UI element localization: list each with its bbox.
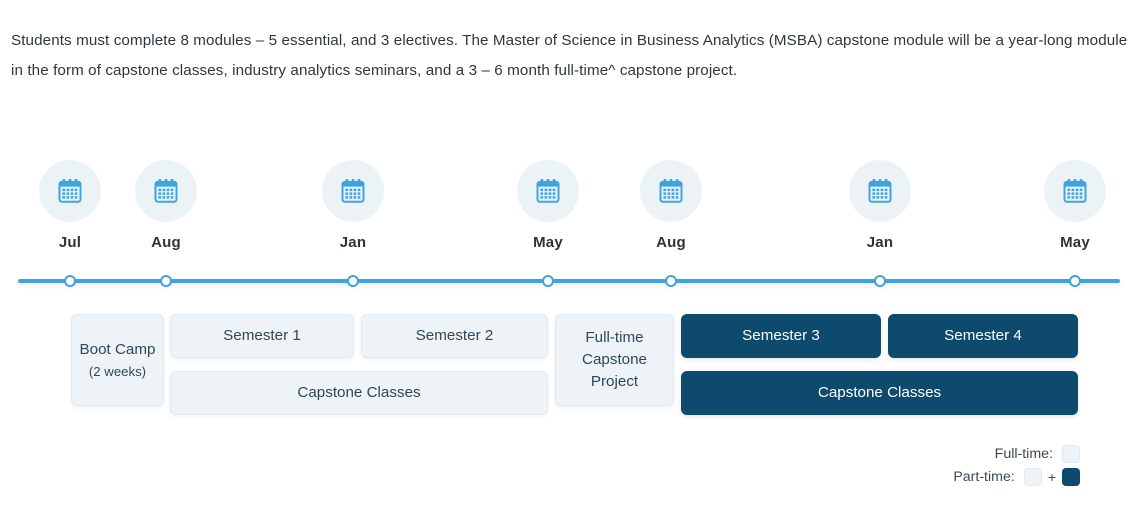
legend-row-part-time: Part-time:+ (953, 465, 1080, 488)
legend-swatch-light (1024, 468, 1042, 486)
milestone-circle (322, 160, 384, 222)
calendar-icon (657, 177, 685, 205)
bar-semester-3[interactable]: Semester 3 (681, 314, 881, 358)
axis-dot-0 (64, 275, 76, 287)
legend: Full-time:Part-time:+ (953, 442, 1080, 488)
milestone-may-3: May (488, 160, 608, 251)
axis-dot-4 (665, 275, 677, 287)
bar-label: Boot Camp (80, 339, 156, 361)
milestone-circle (640, 160, 702, 222)
milestone-label: Jan (820, 234, 940, 251)
axis-dot-1 (160, 275, 172, 287)
bar-full-time-capstone-project[interactable]: Full-time Capstone Project (555, 314, 674, 406)
bar-content: Boot Camp(2 weeks) (80, 339, 156, 382)
bar-label: Capstone Classes (297, 382, 420, 404)
milestone-aug-1: Aug (106, 160, 226, 251)
legend-joiner: + (1048, 469, 1056, 485)
timeline-bars: Boot Camp(2 weeks)Semester 1Semester 2Fu… (0, 314, 1138, 420)
milestone-circle (1044, 160, 1106, 222)
calendar-icon (534, 177, 562, 205)
milestone-may-6: May (1015, 160, 1135, 251)
bar-semester-4[interactable]: Semester 4 (888, 314, 1078, 358)
bar-label: Semester 2 (416, 325, 494, 347)
calendar-icon (56, 177, 84, 205)
milestone-aug-4: Aug (611, 160, 731, 251)
bar-capstone-classes[interactable]: Capstone Classes (681, 371, 1078, 415)
milestone-label: Aug (106, 234, 226, 251)
milestone-label: May (1015, 234, 1135, 251)
legend-swatch-light (1062, 445, 1080, 463)
axis-dot-6 (1069, 275, 1081, 287)
timeline-axis-line (18, 279, 1120, 283)
axis-dot-5 (874, 275, 886, 287)
bar-content: Full-time Capstone Project (562, 327, 667, 393)
bar-content: Capstone Classes (297, 382, 420, 404)
milestone-circle (39, 160, 101, 222)
bar-label: Semester 1 (223, 325, 301, 347)
bar-content: Capstone Classes (818, 382, 941, 404)
milestone-label: Jan (293, 234, 413, 251)
axis-dot-3 (542, 275, 554, 287)
milestone-label: Aug (611, 234, 731, 251)
timeline-axis (0, 276, 1138, 294)
bar-semester-2[interactable]: Semester 2 (361, 314, 548, 358)
milestone-label: May (488, 234, 608, 251)
legend-swatch-dark (1062, 468, 1080, 486)
legend-label: Part-time: (953, 469, 1015, 485)
bar-content: Semester 2 (416, 325, 494, 347)
intro-paragraph: Students must complete 8 modules – 5 ess… (11, 26, 1138, 86)
bar-content: Semester 1 (223, 325, 301, 347)
bar-semester-1[interactable]: Semester 1 (170, 314, 354, 358)
calendar-icon (152, 177, 180, 205)
milestone-jan-5: Jan (820, 160, 940, 251)
bar-sublabel: (2 weeks) (80, 361, 156, 382)
bar-content: Semester 3 (742, 325, 820, 347)
calendar-icon (1061, 177, 1089, 205)
milestone-circle (849, 160, 911, 222)
bar-label: Capstone Classes (818, 382, 941, 404)
bar-boot-camp[interactable]: Boot Camp(2 weeks) (71, 314, 164, 406)
timeline-milestones: JulAugJanMayAugJanMay (0, 160, 1138, 290)
bar-label: Full-time Capstone Project (562, 327, 667, 393)
legend-row-full-time: Full-time: (953, 442, 1080, 465)
milestone-jan-2: Jan (293, 160, 413, 251)
legend-label: Full-time: (995, 446, 1053, 462)
milestone-circle (135, 160, 197, 222)
axis-dot-2 (347, 275, 359, 287)
bar-label: Semester 4 (944, 325, 1022, 347)
calendar-icon (339, 177, 367, 205)
bar-content: Semester 4 (944, 325, 1022, 347)
calendar-icon (866, 177, 894, 205)
bar-capstone-classes[interactable]: Capstone Classes (170, 371, 548, 415)
milestone-circle (517, 160, 579, 222)
bar-label: Semester 3 (742, 325, 820, 347)
